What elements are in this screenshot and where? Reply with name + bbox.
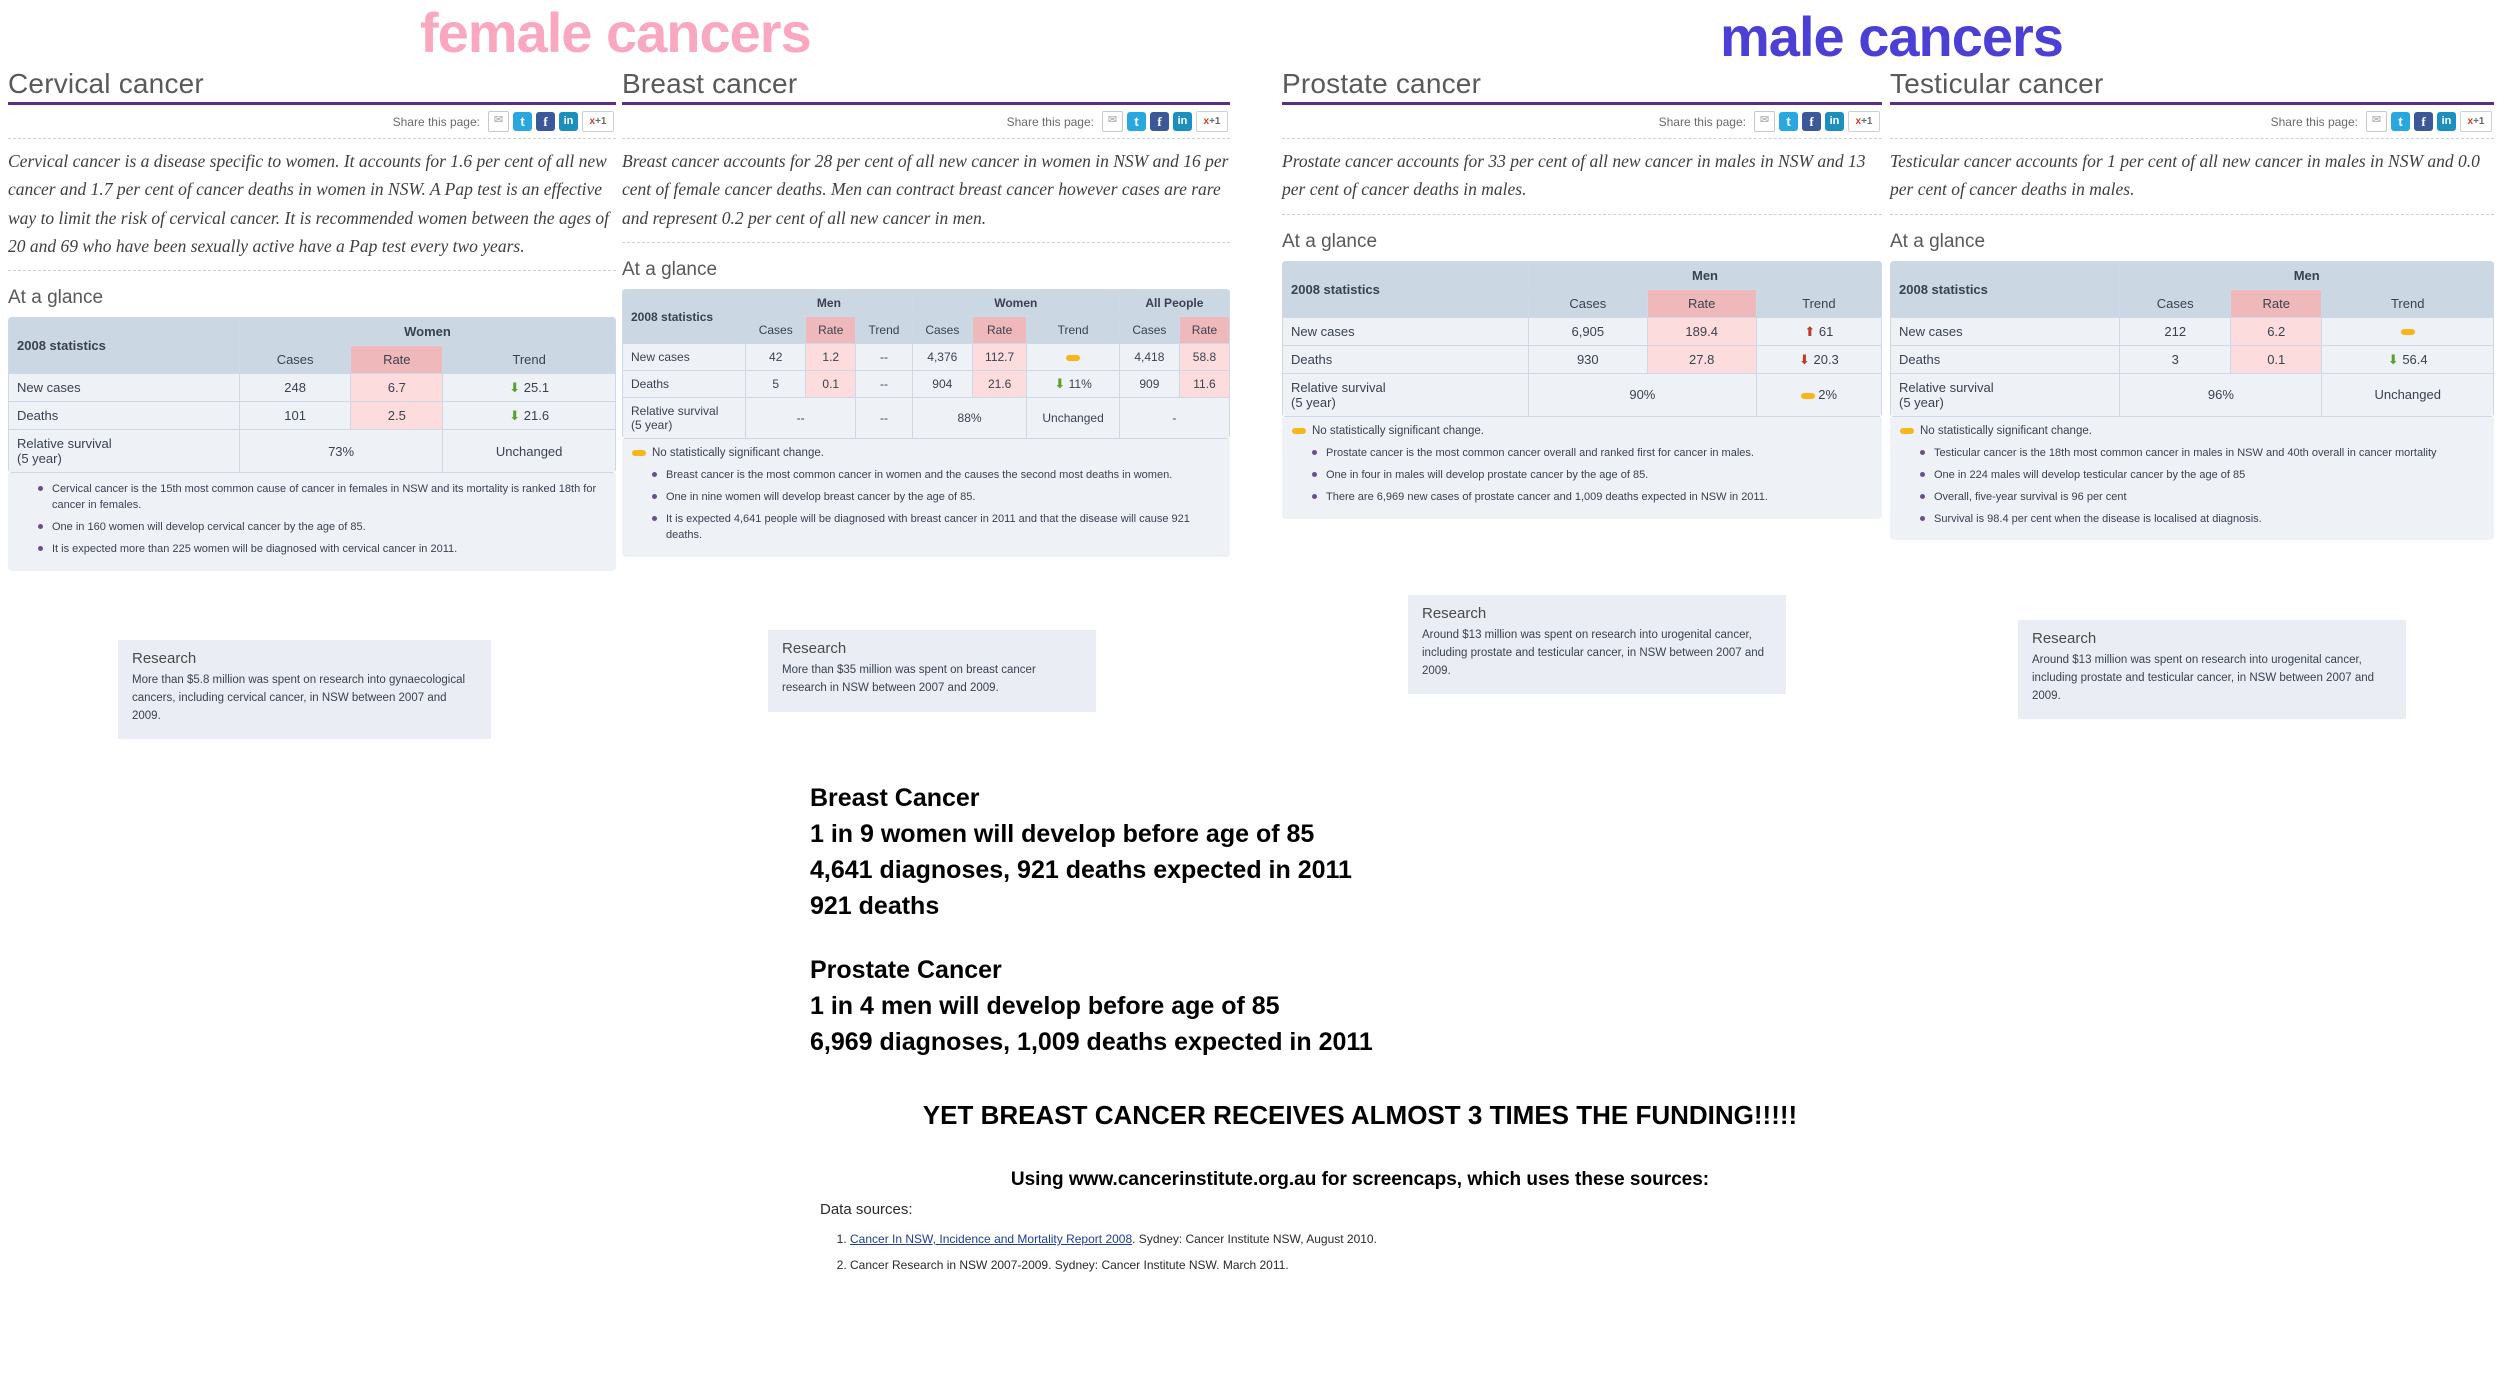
no-change-label: No statistically significant change. (1312, 425, 1484, 437)
linkedin-icon[interactable]: in (2437, 112, 2456, 131)
row-label-deaths: Deaths (1891, 345, 2120, 373)
page-title-testicular: Testicular cancer (1890, 68, 2494, 105)
bullet-list-breast: Breast cancer is the most common cancer … (632, 465, 1220, 547)
list-item: Survival is 98.4 per cent when the disea… (1934, 509, 2484, 531)
list-item: Overall, five-year survival is 96 per ce… (1934, 487, 2484, 509)
list-item: It is expected 4,641 people will be diag… (666, 509, 1220, 547)
col-cases-men: Cases (746, 317, 806, 344)
cell-deaths-rate: 27.8 (1647, 345, 1756, 373)
rel-survival-line1: Relative survival (631, 404, 718, 418)
cell-new-cases-cases: 212 (2120, 317, 2231, 345)
banner-female-cancers: female cancers (420, 0, 811, 65)
table-row: New cases 248 6.7 ⬇ 25.1 (9, 374, 616, 402)
trend-value: 56.4 (2402, 352, 2427, 367)
group-women: Women (239, 318, 615, 346)
at-a-glance-heading-cervical: At a glance (8, 287, 616, 309)
list-item: One in four in males will develop prosta… (1326, 465, 1872, 487)
mail-icon[interactable]: ✉ (2366, 111, 2387, 132)
linkedin-icon[interactable]: in (1825, 112, 1844, 131)
source-1-rest: . Sydney: Cancer Institute NSW, August 2… (1132, 1232, 1377, 1246)
summary-shout: YET BREAST CANCER RECEIVES ALMOST 3 TIME… (810, 1100, 1910, 1131)
panel-breast: Breast cancer Share this page: ✉ t f in … (622, 68, 1230, 557)
cell-women-deaths-trend: ⬇ 11% (1027, 371, 1119, 398)
cell-deaths-cases: 3 (2120, 345, 2231, 373)
cell-survival-value: 73% (239, 430, 442, 473)
no-change-legend: No statistically significant change. (1292, 423, 1872, 443)
col-rate-men: Rate (806, 317, 856, 344)
cell-survival-value: 96% (2120, 373, 2322, 416)
googleplus-icon[interactable]: x+1 (2460, 111, 2492, 132)
rel-survival-line2: (5 year) (17, 451, 62, 466)
rel-survival-line2: (5 year) (631, 418, 672, 432)
col-cases-all: Cases (1119, 317, 1179, 344)
table-row: Deaths 3 0.1 ⬇ 56.4 (1891, 345, 2494, 373)
summary-using-source: Using www.cancerinstitute.org.au for scr… (810, 1169, 1910, 1191)
facebook-icon[interactable]: f (2414, 112, 2433, 131)
table-row: Deaths 101 2.5 ⬇ 21.6 (9, 402, 616, 430)
panel-testicular: Testicular cancer Share this page: ✉ t f… (1890, 68, 2494, 540)
trend-value: 25.1 (524, 380, 549, 395)
page-title-prostate: Prostate cancer (1282, 68, 1882, 105)
panel-prostate: Prostate cancer Share this page: ✉ t f i… (1282, 68, 1882, 519)
cell-all-survival: - (1119, 398, 1229, 439)
summary-breast-line3: 921 deaths (810, 888, 1910, 924)
trend-value: 20.3 (1813, 352, 1838, 367)
col-rate: Rate (2231, 289, 2322, 317)
twitter-icon[interactable]: t (513, 112, 532, 131)
share-label: Share this page: (393, 115, 480, 129)
col-trend: Trend (443, 346, 616, 374)
col-2008-statistics: 2008 statistics (1891, 261, 2120, 317)
notes-breast: No statistically significant change. Bre… (622, 439, 1230, 557)
table-row: Deaths 930 27.8 ⬇ 20.3 (1283, 345, 1882, 373)
col-rate: Rate (351, 346, 443, 374)
no-change-icon (1900, 428, 1914, 434)
research-box-testicular: Research Around $13 million was spent on… (2018, 620, 2406, 719)
notes-testicular: No statistically significant change. Tes… (1890, 417, 2494, 541)
row-label-new-cases: New cases (1891, 317, 2120, 345)
cell-women-new-rate: 112.7 (972, 344, 1026, 371)
cell-all-new-cases: 4,418 (1119, 344, 1179, 371)
list-item: Breast cancer is the most common cancer … (666, 465, 1220, 487)
facebook-icon[interactable]: f (1150, 112, 1169, 131)
bullet-list-cervical: Cervical cancer is the 15th most common … (18, 479, 606, 561)
research-heading: Research (2032, 630, 2392, 647)
summary-prostate-line1: 1 in 4 men will develop before age of 85 (810, 988, 1910, 1024)
trend-value: 11% (1069, 377, 1092, 391)
row-label-deaths: Deaths (9, 402, 240, 430)
page-title-breast: Breast cancer (622, 68, 1230, 105)
col-rate-all: Rate (1179, 317, 1229, 344)
cell-women-deaths-rate: 21.6 (972, 371, 1026, 398)
col-trend: Trend (2322, 289, 2494, 317)
table-row: Relative survival (5 year) 90% 2% (1283, 373, 1882, 416)
col-trend-women: Trend (1027, 317, 1119, 344)
summary-block: Breast Cancer 1 in 9 women will develop … (810, 780, 1910, 1278)
cell-all-deaths-rate: 11.6 (1179, 371, 1229, 398)
row-label-relative-survival: Relative survival (5 year) (1891, 373, 2120, 416)
data-sources-label: Data sources: (820, 1201, 1910, 1218)
gplus-plus-one: +1 (2473, 116, 2484, 127)
row-label-deaths: Deaths (1283, 345, 1529, 373)
row-label-new-cases: New cases (9, 374, 240, 402)
no-change-icon (1066, 355, 1080, 361)
lede-testicular: Testicular cancer accounts for 1 per cen… (1890, 139, 2494, 215)
cell-men-new-trend: -- (856, 344, 913, 371)
share-row-breast: Share this page: ✉ t f in x+1 (622, 105, 1230, 139)
cell-deaths-trend: ⬇ 21.6 (443, 402, 616, 430)
linkedin-icon[interactable]: in (559, 112, 578, 131)
share-label: Share this page: (1659, 115, 1746, 129)
cell-all-deaths-cases: 909 (1119, 371, 1179, 398)
rel-survival-line1: Relative survival (1899, 380, 1994, 395)
cell-deaths-trend: ⬇ 20.3 (1756, 345, 1881, 373)
cell-all-new-rate: 58.8 (1179, 344, 1229, 371)
no-change-icon (2401, 329, 2415, 335)
lede-prostate: Prostate cancer accounts for 33 per cent… (1282, 139, 1882, 215)
list-item: Cervical cancer is the 15th most common … (52, 479, 606, 517)
cell-men-deaths-trend: -- (856, 371, 913, 398)
cell-new-cases-trend (2322, 317, 2494, 345)
row-label-relative-survival: Relative survival (5 year) (623, 398, 746, 439)
cell-men-survival: -- (746, 398, 856, 439)
stats-table-testicular: 2008 statistics Men Cases Rate Trend New… (1890, 261, 2494, 417)
research-text: Around $13 million was spent on research… (1422, 627, 1772, 680)
col-2008-statistics: 2008 statistics (9, 318, 240, 374)
cell-survival-trend: Unchanged (2322, 373, 2494, 416)
cell-deaths-trend: ⬇ 56.4 (2322, 345, 2494, 373)
row-label-new-cases: New cases (623, 344, 746, 371)
research-heading: Research (782, 640, 1082, 657)
cell-men-new-cases: 42 (746, 344, 806, 371)
summary-prostate-line2: 6,969 diagnoses, 1,009 deaths expected i… (810, 1024, 1910, 1060)
col-cases: Cases (2120, 289, 2231, 317)
cell-new-cases-trend: ⬆ 61 (1756, 317, 1881, 345)
table-row: Relative survival (5 year) 96% Unchanged (1891, 373, 2494, 416)
banner-male-cancers: male cancers (1720, 4, 2063, 69)
lede-cervical: Cervical cancer is a disease specific to… (8, 139, 616, 271)
col-2008-statistics: 2008 statistics (1283, 261, 1529, 317)
rel-survival-line2: (5 year) (1899, 395, 1944, 410)
bullet-list-testicular: Testicular cancer is the 18th most commo… (1900, 443, 2484, 531)
list-item: One in 224 males will develop testicular… (1934, 465, 2484, 487)
no-change-icon (1801, 393, 1815, 399)
summary-breast-heading: Breast Cancer (810, 780, 1910, 816)
stats-table-cervical: 2008 statistics Women Cases Rate Trend N… (8, 317, 616, 473)
rel-survival-line1: Relative survival (1291, 380, 1386, 395)
summary-breast-line1: 1 in 9 women will develop before age of … (810, 816, 1910, 852)
research-box-prostate: Research Around $13 million was spent on… (1408, 595, 1786, 694)
cell-new-cases-trend: ⬇ 25.1 (443, 374, 616, 402)
cell-deaths-cases: 101 (239, 402, 350, 430)
list-item: There are 6,969 new cases of prostate ca… (1326, 487, 1872, 509)
at-a-glance-heading-testicular: At a glance (1890, 231, 2494, 253)
page-title-cervical: Cervical cancer (8, 68, 616, 105)
stats-table-prostate: 2008 statistics Men Cases Rate Trend New… (1282, 261, 1882, 417)
share-label: Share this page: (2271, 115, 2358, 129)
spacer (810, 924, 1910, 952)
data-sources-list: Cancer In NSW, Incidence and Mortality R… (850, 1226, 1910, 1278)
table-row: New cases 212 6.2 (1891, 317, 2494, 345)
group-all-people: All People (1119, 290, 1229, 317)
cell-men-deaths-cases: 5 (746, 371, 806, 398)
list-item: Cancer In NSW, Incidence and Mortality R… (850, 1226, 1910, 1252)
row-label-relative-survival: Relative survival (5 year) (1283, 373, 1529, 416)
trend-value: 2% (1818, 387, 1837, 402)
arrow-down-icon: ⬇ (2388, 352, 2399, 367)
list-item: One in 160 women will develop cervical c… (52, 517, 606, 539)
at-a-glance-heading-prostate: At a glance (1282, 231, 1882, 253)
googleplus-icon[interactable]: x+1 (1848, 111, 1880, 132)
twitter-icon[interactable]: t (2391, 112, 2410, 131)
notes-cervical: Cervical cancer is the 15th most common … (8, 473, 616, 571)
summary-prostate-heading: Prostate Cancer (810, 952, 1910, 988)
lede-breast: Breast cancer accounts for 28 per cent o… (622, 139, 1230, 243)
list-item: Cancer Research in NSW 2007-2009. Sydney… (850, 1252, 1910, 1278)
cell-women-deaths-cases: 904 (912, 371, 972, 398)
twitter-icon[interactable]: t (1779, 112, 1798, 131)
share-label: Share this page: (1007, 115, 1094, 129)
list-item: Testicular cancer is the 18th most commo… (1934, 443, 2484, 465)
no-change-icon (1292, 428, 1306, 434)
share-row-testicular: Share this page: ✉ t f in x+1 (1890, 105, 2494, 139)
googleplus-icon[interactable]: x+1 (1196, 111, 1228, 132)
arrow-down-icon: ⬇ (1054, 376, 1065, 391)
group-men: Men (1528, 261, 1881, 289)
linkedin-icon[interactable]: in (1173, 112, 1192, 131)
stats-table-breast: 2008 statistics Men Women All People Cas… (622, 289, 1230, 439)
list-item: One in nine women will develop breast ca… (666, 487, 1220, 509)
share-row-cervical: Share this page: ✉ t f in x+1 (8, 105, 616, 139)
research-text: More than $35 million was spent on breas… (782, 662, 1082, 698)
research-heading: Research (1422, 605, 1772, 622)
arrow-up-icon: ⬆ (1804, 324, 1815, 339)
table-row: Deaths 5 0.1 -- 904 21.6 ⬇ 11% 909 11.6 (623, 371, 1230, 398)
no-change-label: No statistically significant change. (1920, 425, 2092, 437)
research-text: Around $13 million was spent on research… (2032, 652, 2392, 705)
cell-men-new-rate: 1.2 (806, 344, 856, 371)
cell-men-survival-trend: -- (856, 398, 913, 439)
cell-deaths-cases: 930 (1528, 345, 1647, 373)
col-trend-men: Trend (856, 317, 913, 344)
row-label-new-cases: New cases (1283, 317, 1529, 345)
cell-deaths-rate: 0.1 (2231, 345, 2322, 373)
table-row: Relative survival (5 year) -- -- 88% Unc… (623, 398, 1230, 439)
research-text: More than $5.8 million was spent on rese… (132, 672, 477, 725)
col-cases-women: Cases (912, 317, 972, 344)
cell-women-survival: 88% (912, 398, 1027, 439)
trend-value: 61 (1819, 324, 1833, 339)
cell-women-new-trend (1027, 344, 1119, 371)
facebook-icon[interactable]: f (1802, 112, 1821, 131)
no-change-legend: No statistically significant change. (1900, 423, 2484, 443)
panel-cervical: Cervical cancer Share this page: ✉ t f i… (8, 68, 616, 571)
gplus-plus-one: +1 (595, 116, 606, 127)
col-rate-women: Rate (972, 317, 1026, 344)
arrow-down-icon: ⬇ (509, 380, 520, 395)
no-change-icon (632, 450, 646, 456)
row-label-relative-survival: Relative survival (5 year) (9, 430, 240, 473)
trend-value: 21.6 (524, 408, 549, 423)
cell-deaths-rate: 2.5 (351, 402, 443, 430)
row-label-deaths: Deaths (623, 371, 746, 398)
gplus-plus-one: +1 (1209, 116, 1220, 127)
rel-survival-line2: (5 year) (1291, 395, 1336, 410)
cell-new-cases-rate: 6.2 (2231, 317, 2322, 345)
research-heading: Research (132, 650, 477, 667)
mail-icon[interactable]: ✉ (1754, 111, 1775, 132)
cell-survival-value: 90% (1528, 373, 1756, 416)
col-cases: Cases (1528, 289, 1647, 317)
cell-survival-trend: 2% (1756, 373, 1881, 416)
source-link-1[interactable]: Cancer In NSW, Incidence and Mortality R… (850, 1232, 1132, 1246)
share-row-prostate: Share this page: ✉ t f in x+1 (1282, 105, 1882, 139)
cell-women-new-cases: 4,376 (912, 344, 972, 371)
col-rate: Rate (1647, 289, 1756, 317)
cell-men-deaths-rate: 0.1 (806, 371, 856, 398)
at-a-glance-heading-breast: At a glance (622, 259, 1230, 281)
notes-prostate: No statistically significant change. Pro… (1282, 417, 1882, 519)
arrow-down-icon: ⬇ (1799, 352, 1810, 367)
gplus-plus-one: +1 (1861, 116, 1872, 127)
arrow-down-icon: ⬇ (509, 408, 520, 423)
no-change-legend: No statistically significant change. (632, 445, 1220, 465)
list-item: It is expected more than 225 women will … (52, 539, 606, 561)
list-item: Prostate cancer is the most common cance… (1326, 443, 1872, 465)
twitter-icon[interactable]: t (1127, 112, 1146, 131)
bullet-list-prostate: Prostate cancer is the most common cance… (1292, 443, 1872, 509)
cell-survival-trend: Unchanged (443, 430, 616, 473)
col-2008-statistics: 2008 statistics (623, 290, 746, 344)
group-men: Men (2120, 261, 2494, 289)
group-women: Women (912, 290, 1119, 317)
cell-new-cases-cases: 6,905 (1528, 317, 1647, 345)
rel-survival-line1: Relative survival (17, 436, 112, 451)
table-row: New cases 6,905 189.4 ⬆ 61 (1283, 317, 1882, 345)
cell-women-survival-trend: Unchanged (1027, 398, 1119, 439)
group-men: Men (746, 290, 913, 317)
col-cases: Cases (239, 346, 350, 374)
col-trend: Trend (1756, 289, 1881, 317)
research-box-breast: Research More than $35 million was spent… (768, 630, 1096, 712)
table-row: Relative survival (5 year) 73% Unchanged (9, 430, 616, 473)
cell-new-cases-rate: 189.4 (1647, 317, 1756, 345)
cell-new-cases-cases: 248 (239, 374, 350, 402)
table-row: New cases 42 1.2 -- 4,376 112.7 4,418 58… (623, 344, 1230, 371)
mail-icon[interactable]: ✉ (1102, 111, 1123, 132)
googleplus-icon[interactable]: x+1 (582, 111, 614, 132)
summary-breast-line2: 4,641 diagnoses, 921 deaths expected in … (810, 852, 1910, 888)
research-box-cervical: Research More than $5.8 million was spen… (118, 640, 491, 739)
no-change-label: No statistically significant change. (652, 447, 824, 459)
mail-icon[interactable]: ✉ (488, 111, 509, 132)
facebook-icon[interactable]: f (536, 112, 555, 131)
cell-new-cases-rate: 6.7 (351, 374, 443, 402)
